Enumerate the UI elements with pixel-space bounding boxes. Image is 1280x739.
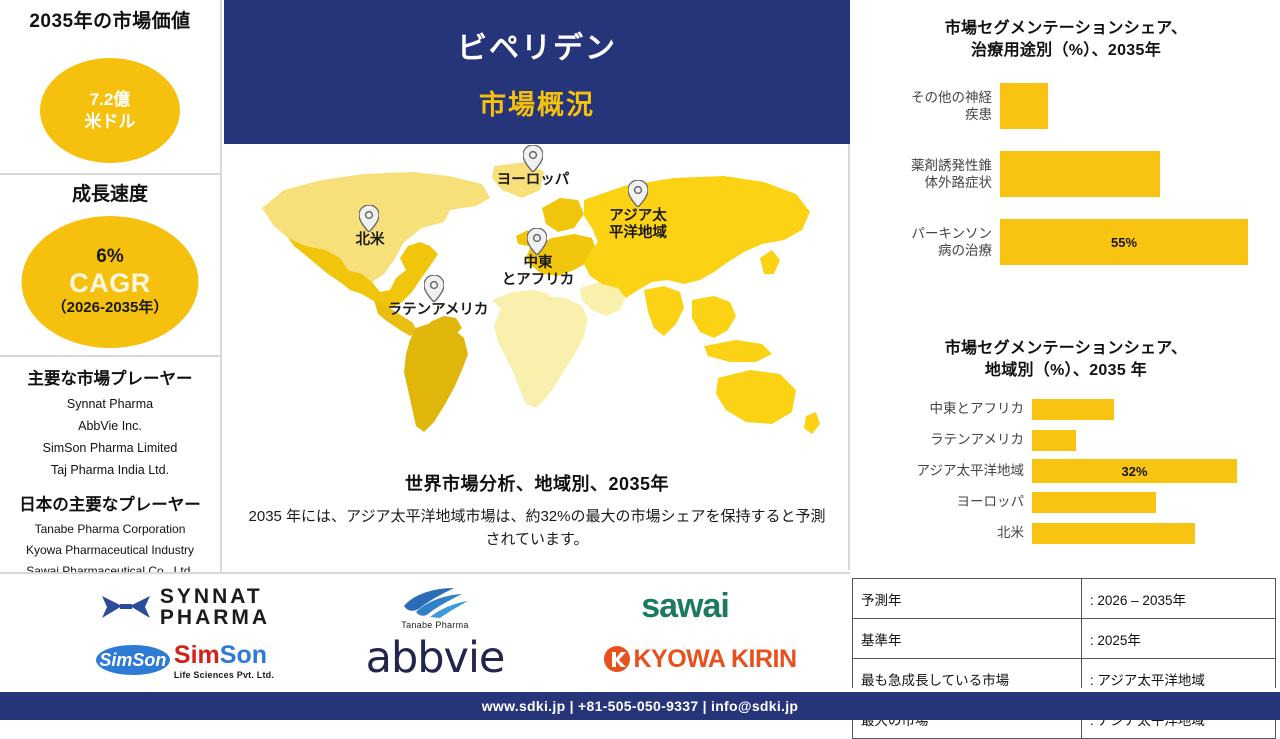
- chart-bar-row: ヨーロッパ: [852, 489, 1280, 515]
- tanabe-wave-icon: [400, 586, 470, 618]
- cagr-value: 6%: [96, 247, 123, 268]
- chart-bar: [1032, 399, 1114, 420]
- map-region-southeast-asia: [692, 296, 736, 338]
- map-pin-europe: [523, 145, 543, 172]
- page-title: ビペリデン: [457, 23, 617, 67]
- market-value-bubble: 7.2億 米ドル: [40, 58, 180, 163]
- market-value-amount: 7.2億: [90, 89, 131, 110]
- japan-players-heading: 日本の主要なプレーヤー: [0, 491, 220, 515]
- abbvie-logo-text: abbvie: [366, 633, 505, 683]
- table-row: 予測年 : 2026 – 2035年: [853, 579, 1276, 619]
- logo-simson: SimSon SimSon Life Sciences Pvt. Ltd.: [60, 636, 310, 684]
- key-player-item: AbbVie Inc.: [0, 415, 220, 437]
- key-player-item: Taj Pharma India Ltd.: [0, 459, 220, 481]
- global-analysis-title: 世界市場分析、地域別、2035年: [224, 470, 850, 496]
- logo-synnat-pharma: SYNNAT PHARMA: [70, 582, 300, 632]
- chart-bar-label: パーキンソン 病の治療: [852, 225, 1000, 260]
- chart-bar-row: 北米: [852, 520, 1280, 546]
- chart-bar: [1000, 151, 1160, 197]
- chart-bar-row: 薬剤誘発性錐 体外路症状: [852, 146, 1280, 202]
- market-value-title: 2035年の市場価値: [0, 0, 220, 34]
- chart-bar-label: 薬剤誘発性錐 体外路症状: [852, 157, 1000, 192]
- chart-bar-label: ヨーロッパ: [852, 493, 1032, 511]
- sawai-logo-text: sawai: [641, 587, 729, 626]
- tanabe-logo-text: Tanabe Pharma: [401, 620, 468, 630]
- growth-rate-panel: 成長速度 6% CAGR （2026-2035年）: [0, 175, 220, 357]
- map-region-japan: [760, 250, 780, 274]
- logo-tanabe-pharma: Tanabe Pharma: [360, 582, 510, 634]
- chart-bar-row: アジア太平洋地域 32%: [852, 458, 1280, 484]
- map-pin-middle-east-africa: [527, 228, 547, 255]
- chart-bar: 32%: [1032, 459, 1237, 483]
- chart-bar-row: パーキンソン 病の治療 55%: [852, 214, 1280, 270]
- global-analysis-body: 2035 年には、アジア太平洋地域市場は、約32%の最大の市場シェアを保持すると…: [246, 505, 828, 552]
- logo-kyowa-kirin: KYOWA KIRIN: [580, 636, 820, 682]
- chart-bar-label: その他の神経 疾患: [852, 89, 1000, 124]
- page-subtitle: 市場概況: [479, 83, 595, 122]
- chart-regional-segmentation: 市場セグメンテーションシェア、 地域別（%）、2035 年 中東とアフリカ ラテ…: [852, 338, 1280, 551]
- chart-bar-value: 55%: [1111, 235, 1137, 250]
- map-region-indonesia: [704, 340, 772, 362]
- infographic-root: 2035年の市場価値 7.2億 米ドル 成長速度 6% CAGR （2026-2…: [0, 0, 1280, 720]
- chart-bar: [1032, 430, 1076, 451]
- synnat-logo-subtext: PHARMA: [160, 607, 270, 628]
- growth-rate-title: 成長速度: [0, 175, 220, 207]
- map-label-north-america: 北米: [334, 232, 406, 249]
- simson-logo-text: SimSon: [174, 641, 274, 670]
- table-cell-value: : 2025年: [1081, 619, 1275, 659]
- market-value-panel: 2035年の市場価値 7.2億 米ドル: [0, 0, 220, 175]
- key-player-item: Synnat Pharma: [0, 393, 220, 415]
- chart-bar-label: 北米: [852, 524, 1032, 542]
- map-pin-asia-pacific: [628, 180, 648, 207]
- world-map: 北米 ヨーロッパ アジア太 平洋地域 中東 とアフリカ ラテンアメリカ: [224, 150, 850, 460]
- map-region-india: [644, 286, 684, 336]
- chart-bar-value: 32%: [1121, 464, 1147, 479]
- world-map-svg: [244, 150, 834, 450]
- map-pin-latin-america: [424, 275, 444, 302]
- map-region-south-america: [404, 322, 468, 432]
- chart-bar-row: その他の神経 疾患: [852, 78, 1280, 134]
- simson-logo-subtext: Life Sciences Pvt. Ltd.: [174, 670, 274, 680]
- table-cell-value: : 2026 – 2035年: [1081, 579, 1275, 619]
- key-players-panel: 主要な市場プレーヤー Synnat Pharma AbbVie Inc. Sim…: [0, 357, 220, 582]
- map-label-europe: ヨーロッパ: [473, 172, 593, 189]
- kyowa-kirin-mark-icon: [603, 645, 631, 673]
- cagr-bubble: 6% CAGR （2026-2035年）: [22, 216, 199, 348]
- chart-bar-label: アジア太平洋地域: [852, 462, 1032, 480]
- chart-bar: [1032, 492, 1156, 513]
- map-region-new-zealand: [804, 412, 820, 434]
- chart-therapeutic-title: 市場セグメンテーションシェア、 治療用途別（%）、2035年: [852, 18, 1280, 62]
- key-players-heading: 主要な市場プレーヤー: [0, 365, 220, 389]
- title-banner: ビペリデン 市場概況: [224, 0, 850, 144]
- kyowa-kirin-logo-text: KYOWA KIRIN: [633, 645, 796, 674]
- chart-bar-label: 中東とアフリカ: [852, 400, 1032, 418]
- cagr-period: （2026-2035年）: [52, 299, 169, 317]
- map-pin-north-america: [359, 205, 379, 232]
- table-cell-key: 予測年: [853, 579, 1082, 619]
- japan-player-item: Tanabe Pharma Corporation: [0, 519, 220, 540]
- chart-bar: [1000, 83, 1048, 129]
- chart-bar-label: ラテンアメリカ: [852, 431, 1032, 449]
- footer-contact-text: www.sdki.jp | +81-505-050-9337 | info@sd…: [482, 698, 799, 714]
- map-region-scandinavia: [542, 198, 584, 232]
- logo-abbvie: abbvie: [330, 632, 540, 684]
- chart-therapeutic-segmentation: 市場セグメンテーションシェア、 治療用途別（%）、2035年 その他の神経 疾患…: [852, 18, 1280, 282]
- logo-sawai: sawai: [570, 580, 800, 632]
- partner-logo-strip: SYNNAT PHARMA Tanabe Pharma sawai SimSon: [0, 572, 850, 688]
- map-region-australia: [716, 370, 796, 424]
- right-column: 市場セグメンテーションシェア、 治療用途別（%）、2035年 その他の神経 疾患…: [852, 0, 1280, 570]
- synnat-mark-icon: [100, 592, 152, 622]
- synnat-logo-text: SYNNAT: [160, 586, 270, 607]
- chart-bar: 55%: [1000, 219, 1248, 265]
- key-player-item: SimSon Pharma Limited: [0, 437, 220, 459]
- market-value-currency: 米ドル: [85, 111, 136, 132]
- table-cell-key: 基準年: [853, 619, 1082, 659]
- simson-badge-text: SimSon: [99, 650, 166, 671]
- footer-bar: www.sdki.jp | +81-505-050-9337 | info@sd…: [0, 692, 1280, 720]
- chart-bar-row: ラテンアメリカ: [852, 427, 1280, 453]
- table-row: 基準年 : 2025年: [853, 619, 1276, 659]
- map-label-asia-pacific: アジア太 平洋地域: [589, 208, 687, 243]
- map-label-latin-america: ラテンアメリカ: [358, 302, 518, 319]
- japan-player-item: Kyowa Pharmaceutical Industry: [0, 540, 220, 561]
- cagr-metric: CAGR: [69, 268, 151, 299]
- center-column: ビペリデン 市場概況: [224, 0, 850, 570]
- chart-bar-row: 中東とアフリカ: [852, 396, 1280, 422]
- chart-regional-title: 市場セグメンテーションシェア、 地域別（%）、2035 年: [852, 338, 1280, 382]
- map-label-middle-east-africa: 中東 とアフリカ: [480, 255, 596, 290]
- chart-bar: [1032, 523, 1195, 544]
